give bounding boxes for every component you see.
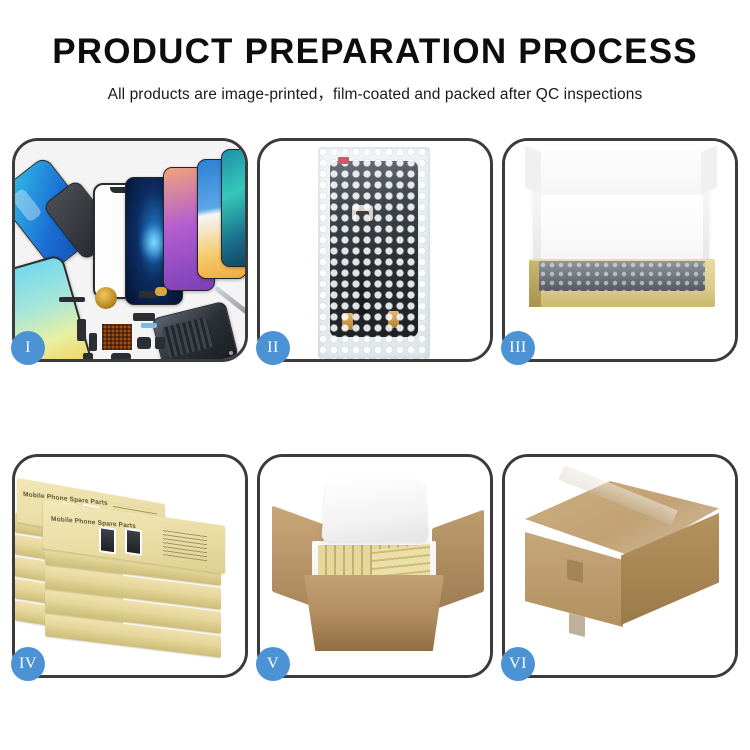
flex-cable-part-2	[133, 313, 155, 321]
screw-part-2	[237, 357, 241, 359]
box-printed-spec-lines	[163, 527, 207, 561]
step-1-image	[15, 141, 245, 359]
bubble-wrap-bag	[318, 147, 430, 359]
carton-seam-upper	[567, 559, 583, 583]
bubble-texture	[318, 147, 430, 359]
step-5-image	[260, 457, 490, 675]
step-badge-6: VI	[501, 647, 535, 681]
phone-screen-teal	[221, 149, 245, 267]
box-label-text: Mobile Phone Spare Parts	[51, 516, 136, 531]
bubble-wrapped-contents	[539, 261, 705, 291]
vibration-motor-part	[95, 287, 117, 309]
box-lid-flap-left	[525, 146, 541, 194]
gold-connector-part	[155, 287, 167, 296]
camera-module-part	[137, 337, 151, 349]
process-step-panel-3[interactable]: III	[502, 138, 738, 362]
taptic-engine-part	[111, 353, 131, 359]
box-lid-flap-right	[701, 146, 717, 194]
sim-tray-part	[89, 333, 97, 351]
earpiece-speaker-part	[59, 297, 85, 302]
step-badge-4: IV	[11, 647, 45, 681]
process-step-grid: I II III	[12, 138, 738, 686]
page-subtitle: All products are image-printed，film-coat…	[0, 82, 750, 104]
process-step-panel-6[interactable]: VI	[502, 454, 738, 678]
process-step-panel-2[interactable]: II	[257, 138, 493, 362]
carton-seam-lower	[569, 613, 585, 637]
process-step-panel-4[interactable]: Mobile Phone Spare Parts Mobile Phone Sp…	[12, 454, 248, 678]
button-flex-part	[77, 319, 86, 341]
step-4-image: Mobile Phone Spare Parts Mobile Phone Sp…	[15, 457, 245, 675]
small-connector-part	[83, 353, 93, 359]
step-badge-5: V	[256, 647, 290, 681]
step-badge-3: III	[501, 331, 535, 365]
step-3-image	[505, 141, 735, 359]
box-printed-screen-2	[125, 528, 142, 556]
process-step-panel-5[interactable]: V	[257, 454, 493, 678]
page-title: PRODUCT PREPARATION PROCESS	[0, 34, 750, 71]
step-6-image	[505, 457, 735, 675]
foam-lid	[321, 480, 429, 542]
loudspeaker-part	[155, 337, 165, 349]
flex-cable-part-3	[141, 323, 157, 328]
carton-body	[304, 575, 444, 651]
phone-opened-body	[151, 301, 239, 359]
box-printed-screen-1	[99, 526, 116, 554]
copper-mesh-part	[101, 323, 133, 351]
qc-sticker	[338, 157, 349, 164]
step-badge-2: II	[256, 331, 290, 365]
page-header: PRODUCT PREPARATION PROCESS All products…	[0, 0, 750, 104]
step-badge-1: I	[11, 331, 45, 365]
step-2-image	[260, 141, 490, 359]
screw-part-1	[229, 351, 233, 355]
process-step-panel-1[interactable]: I	[12, 138, 248, 362]
